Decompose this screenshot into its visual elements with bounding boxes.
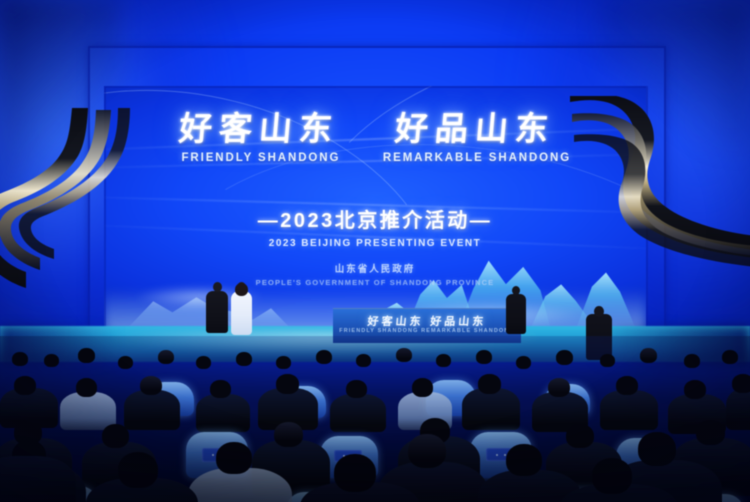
stage-person-staff-standing [506,286,528,336]
audience-area [0,336,750,502]
stage-photograph: 好客山东 FRIENDLY SHANDONG 好品山东 REMARKABLE S… [0,0,750,502]
stage-person-host-male [206,282,230,336]
podium-english-text: FRIENDLY SHANDONG REMARKABLE SHANDONG [333,328,521,334]
audience-vignette [0,336,750,502]
led-frame-inner [104,86,648,336]
stage-person-host-female [231,282,254,338]
podium-chinese-text: 好客山东 好品山东 [333,313,521,329]
